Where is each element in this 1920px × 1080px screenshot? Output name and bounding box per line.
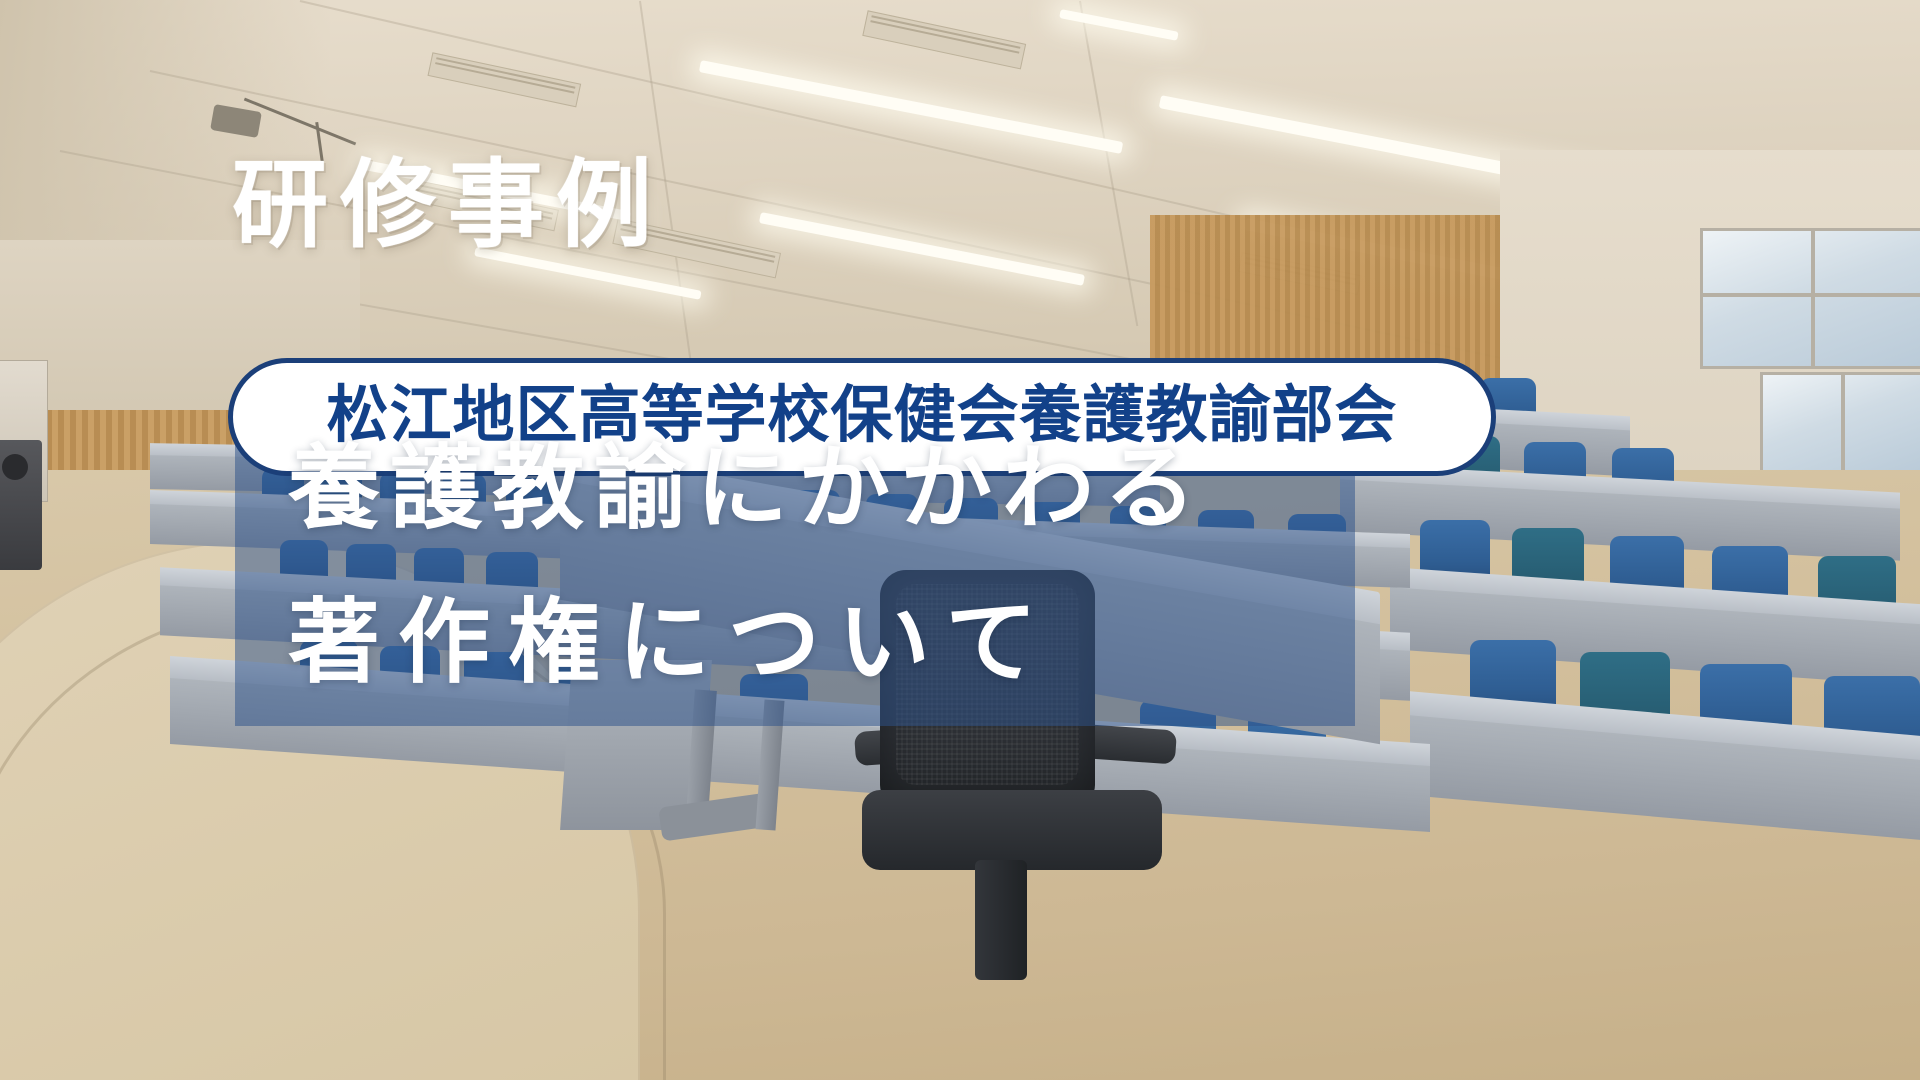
main-title-line-2: 著作権について <box>288 597 1348 689</box>
podium-equipment <box>0 440 42 570</box>
headline-training-case: 研修事例 <box>232 158 664 254</box>
office-chair-seat <box>862 790 1162 870</box>
window <box>1760 372 1920 473</box>
window <box>1700 228 1920 369</box>
main-title-line-1: 養護教諭にかかわる <box>288 443 1348 535</box>
main-title: 養護教諭にかかわる 著作権について <box>288 425 1348 689</box>
slide-root: 研修事例 松江地区高等学校保健会養護教諭部会 養護教諭にかかわる 著作権について <box>0 0 1920 1080</box>
office-chair-column <box>975 860 1027 980</box>
